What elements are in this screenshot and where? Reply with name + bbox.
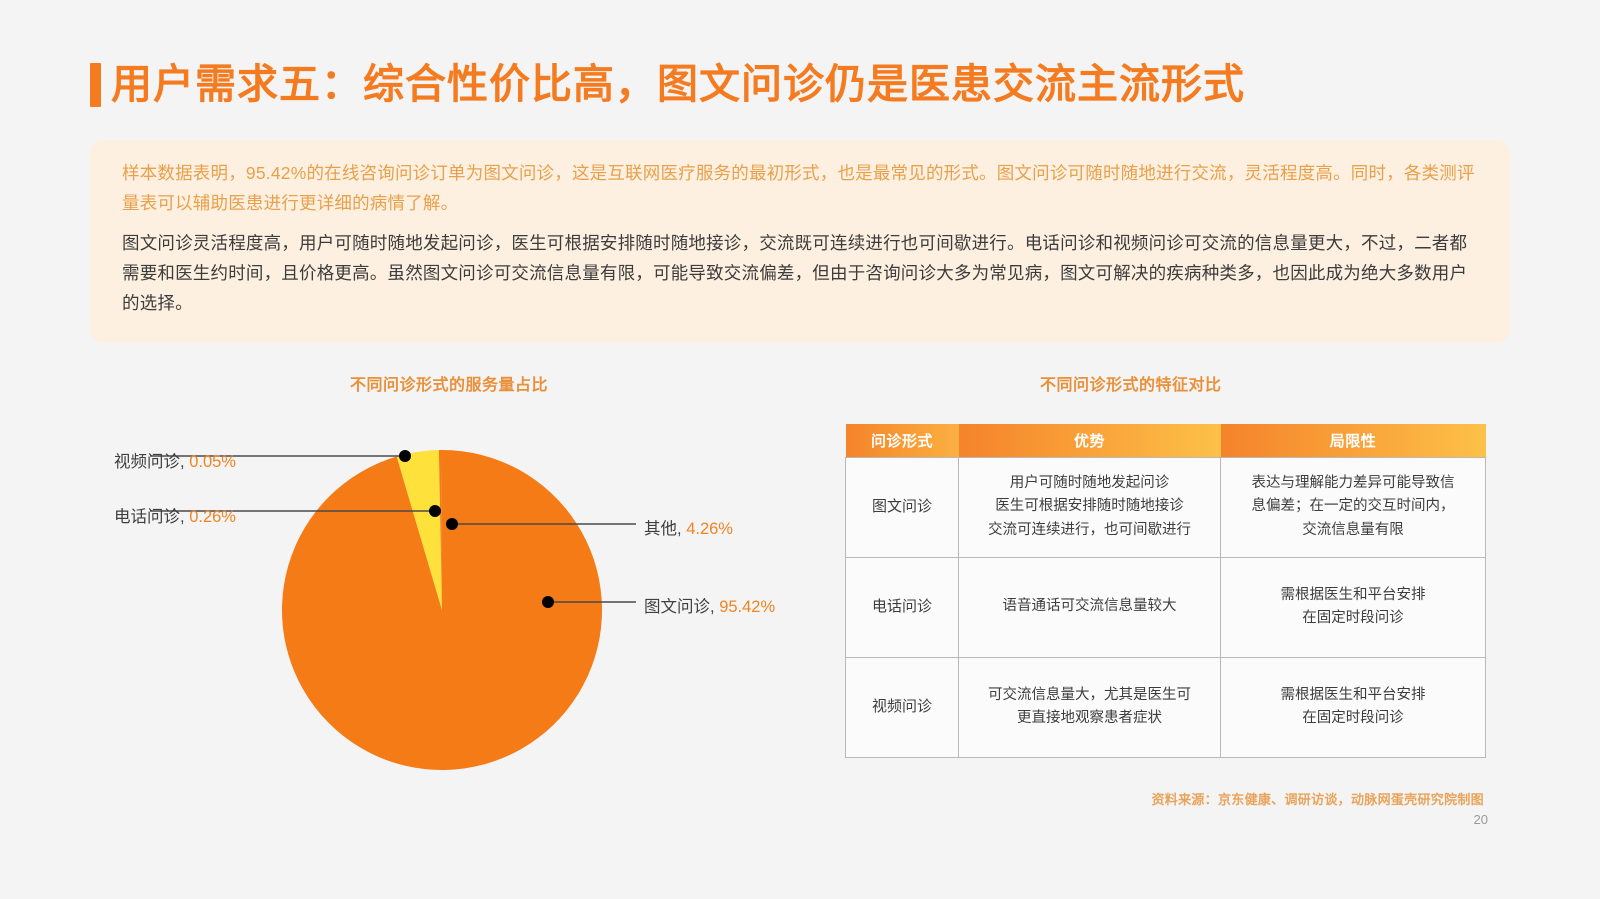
table-cell-advantage: 用户可随时随地发起问诊医生可根据安排随时随地接诊交流可连续进行，也可间歇进行	[959, 457, 1221, 557]
table-cell-advantage: 语音通话可交流信息量较大	[959, 557, 1221, 657]
callout-body-paragraph: 图文问诊灵活程度高，用户可随时随地发起问诊，医生可根据安排随时随地接诊，交流既可…	[122, 228, 1478, 318]
table-header-advantage: 优势	[959, 424, 1221, 457]
leader-other-dot	[446, 518, 458, 530]
pie-chart-title: 不同问诊形式的服务量占比	[350, 371, 548, 395]
comparison-table: 问诊形式 优势 局限性 图文问诊用户可随时随地发起问诊医生可根据安排随时随地接诊…	[845, 424, 1485, 758]
table-body: 图文问诊用户可随时随地发起问诊医生可根据安排随时随地接诊交流可连续进行，也可间歇…	[846, 457, 1486, 757]
comparison-table-title: 不同问诊形式的特征对比	[1040, 371, 1222, 395]
callout-highlight-paragraph: 样本数据表明，95.42%的在线咨询问诊订单为图文问诊，这是互联网医疗服务的最初…	[122, 158, 1478, 218]
table-cell-limitation: 需根据医生和平台安排在固定时段问诊	[1221, 657, 1486, 757]
table-row: 视频问诊可交流信息量大，尤其是医生可更直接地观察患者症状需根据医生和平台安排在固…	[846, 657, 1486, 757]
leader-phone-dot	[429, 505, 441, 517]
table-cell-form: 电话问诊	[846, 557, 959, 657]
table-cell-limitation: 需根据医生和平台安排在固定时段问诊	[1221, 557, 1486, 657]
slide: 用户需求五：综合性价比高，图文问诊仍是医患交流主流形式 样本数据表明，95.42…	[0, 0, 1600, 899]
table-cell-form: 视频问诊	[846, 657, 959, 757]
leader-graphic-dot	[542, 596, 554, 608]
title-text: 用户需求五：综合性价比高，图文问诊仍是医患交流主流形式	[111, 62, 1245, 107]
summary-callout: 样本数据表明，95.42%的在线咨询问诊订单为图文问诊，这是互联网医疗服务的最初…	[90, 140, 1510, 343]
pie-slices	[282, 450, 602, 770]
table-cell-limitation: 表达与理解能力差异可能导致信息偏差；在一定的交互时间内，交流信息量有限	[1221, 457, 1486, 557]
pie-label-phone: 电话问诊, 0.26%	[114, 503, 236, 527]
table-row: 电话问诊语音通话可交流信息量较大需根据医生和平台安排在固定时段问诊	[846, 557, 1486, 657]
pie-chart: 视频问诊, 0.05% 电话问诊, 0.26% 其他, 4.26% 图文问诊, …	[80, 400, 820, 780]
table-header-form: 问诊形式	[846, 424, 959, 457]
pie-label-other: 其他, 4.26%	[644, 515, 733, 539]
leader-video-dot	[399, 450, 411, 462]
pie-label-video: 视频问诊, 0.05%	[114, 448, 236, 472]
table-header-limitation: 局限性	[1221, 424, 1486, 457]
table-header-row: 问诊形式 优势 局限性	[846, 424, 1486, 457]
page-title: 用户需求五：综合性价比高，图文问诊仍是医患交流主流形式	[90, 62, 1245, 107]
title-accent-bar	[90, 63, 101, 107]
table-row: 图文问诊用户可随时随地发起问诊医生可根据安排随时随地接诊交流可连续进行，也可间歇…	[846, 457, 1486, 557]
source-note: 资料来源：京东健康、调研访谈，动脉网蛋壳研究院制图	[1151, 789, 1484, 808]
page-number: 20	[1474, 812, 1488, 827]
table-cell-advantage: 可交流信息量大，尤其是医生可更直接地观察患者症状	[959, 657, 1221, 757]
pie-label-graphic-text: 图文问诊, 95.42%	[644, 593, 775, 617]
table-cell-form: 图文问诊	[846, 457, 959, 557]
